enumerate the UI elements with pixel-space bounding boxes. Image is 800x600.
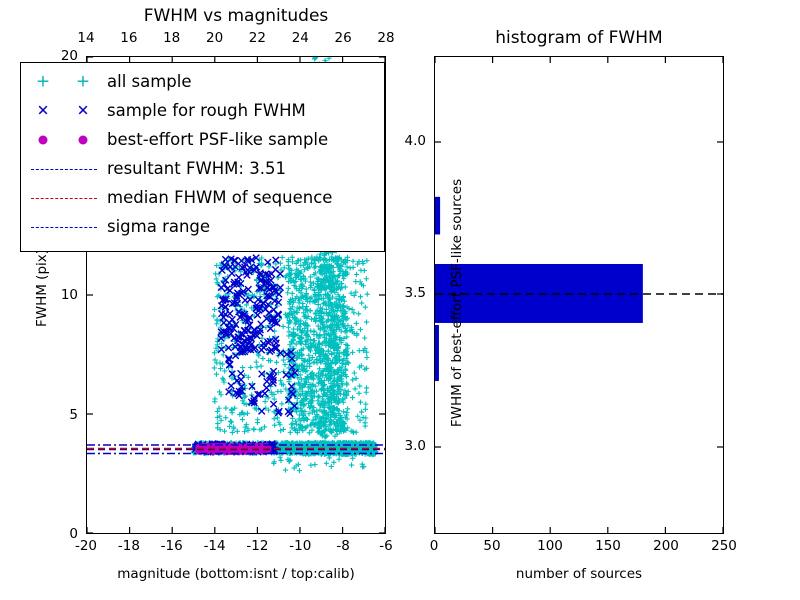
x-mark-icon: ✕✕	[21, 96, 107, 125]
dashdot-line-icon	[21, 212, 107, 241]
legend-item-resultant-fwhm: resultant FWHM: 3.51	[21, 154, 384, 183]
left-chart-title: FWHM vs magnitudes	[86, 6, 386, 26]
dashed-line-icon	[21, 154, 107, 183]
histogram-bar	[435, 326, 438, 381]
left-chart-panel: FWHM vs magnitudes 14 16 18 20 22 24 26 …	[0, 0, 400, 600]
histogram-svg	[435, 57, 723, 533]
dot-icon	[21, 125, 107, 154]
plus-icon: ++	[21, 67, 107, 96]
right-y-axis-label: FWHM of best-effort PSF-like sources	[449, 153, 465, 453]
left-x-axis-label: magnitude (bottom:isnt / top:calib)	[56, 566, 416, 582]
histogram-bar	[435, 197, 440, 234]
legend-item-rough-fwhm: ✕✕ sample for rough FWHM	[21, 96, 384, 125]
legend-item-psf-like: best-effort PSF-like sample	[21, 125, 384, 154]
dashed-line-icon-red	[21, 183, 107, 212]
legend-item-median-fwhm: median FHWM of sequence	[21, 183, 384, 212]
right-plot-area	[434, 56, 724, 534]
legend-item-sigma-range: sigma range	[21, 212, 384, 241]
right-x-axis-label: number of sources	[434, 566, 724, 582]
legend: ++ all sample ✕✕ sample for rough FWHM b…	[20, 62, 385, 252]
legend-item-all-sample: ++ all sample	[21, 67, 384, 96]
right-chart-title: histogram of FWHM	[434, 28, 724, 48]
